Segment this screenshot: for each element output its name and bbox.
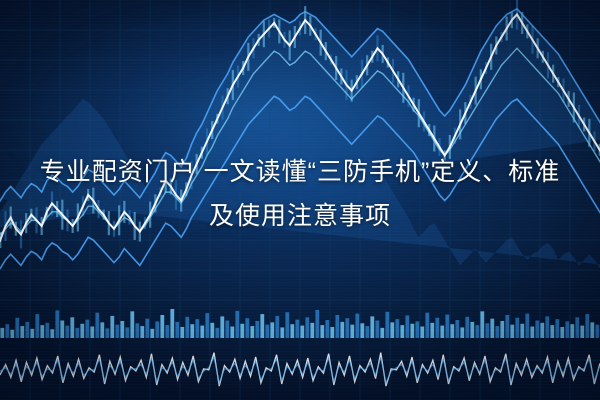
- banner-caption: 专业配资门户 一文读懂“三防手机”定义、标准 及使用注意事项: [0, 150, 600, 238]
- caption-line-2: 及使用注意事项: [24, 194, 576, 238]
- stock-chart-banner: 专业配资门户 一文读懂“三防手机”定义、标准 及使用注意事项: [0, 0, 600, 400]
- caption-line-1: 专业配资门户 一文读懂“三防手机”定义、标准: [24, 150, 576, 194]
